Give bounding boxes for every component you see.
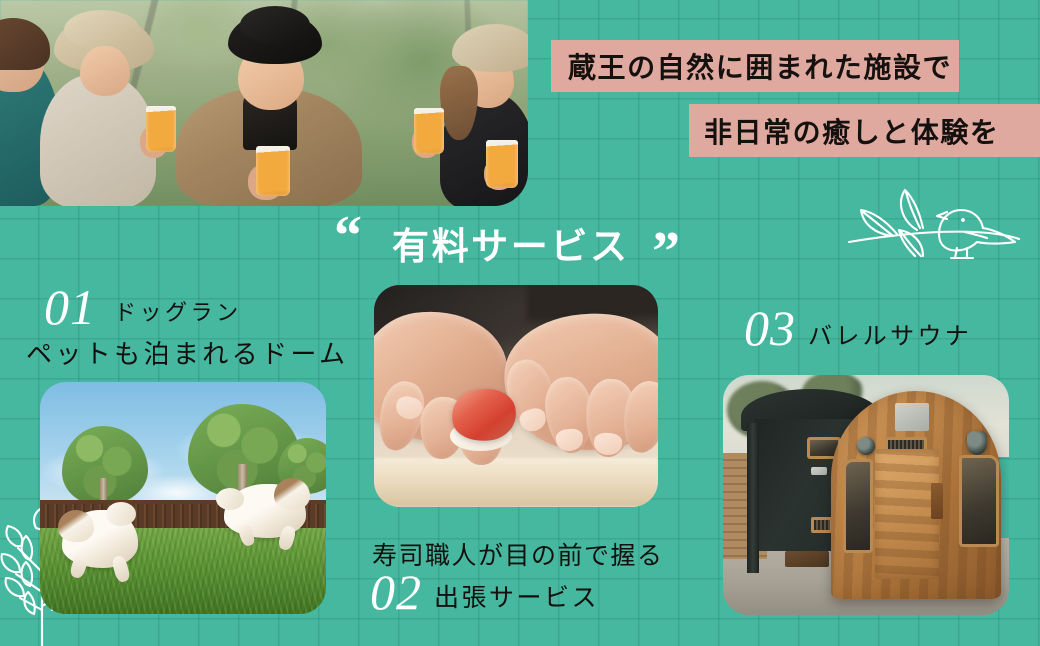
headline-banner-line2: 非日常の癒しと体験を: [689, 104, 1040, 157]
service-number-02: 02: [370, 567, 422, 617]
service-photo-sushi: [374, 285, 658, 507]
service-subtitle-01: ペットも泊まれるドーム: [26, 334, 348, 371]
headline-line2-text: 非日常の癒しと体験を: [704, 111, 999, 151]
headline-banner-line1: 蔵王の自然に囲まれた施設で: [551, 40, 959, 92]
service-title-03: バレルサウナ: [808, 316, 972, 351]
headline-line1-text: 蔵王の自然に囲まれた施設で: [568, 46, 952, 86]
quote-close-icon: ”: [652, 224, 680, 280]
quote-open-icon: “: [334, 208, 362, 264]
section-title: 有料サービス: [392, 216, 630, 270]
bird-on-branch-icon: [845, 172, 1021, 276]
hero-photo-people: [0, 0, 528, 206]
service-number-03: 03: [744, 303, 796, 353]
service-photo-barrel-sauna: [723, 375, 1009, 615]
service-number-01: 01: [44, 282, 96, 332]
poster-canvas: 蔵王の自然に囲まれた施設で 非日常の癒しと体験を “ 有料サービス ” 01 ド…: [0, 0, 1040, 646]
service-title-01: ドッグラン: [114, 295, 242, 327]
service-title-02: 出張サービス: [434, 578, 599, 614]
service-photo-dog-run: [40, 382, 326, 614]
